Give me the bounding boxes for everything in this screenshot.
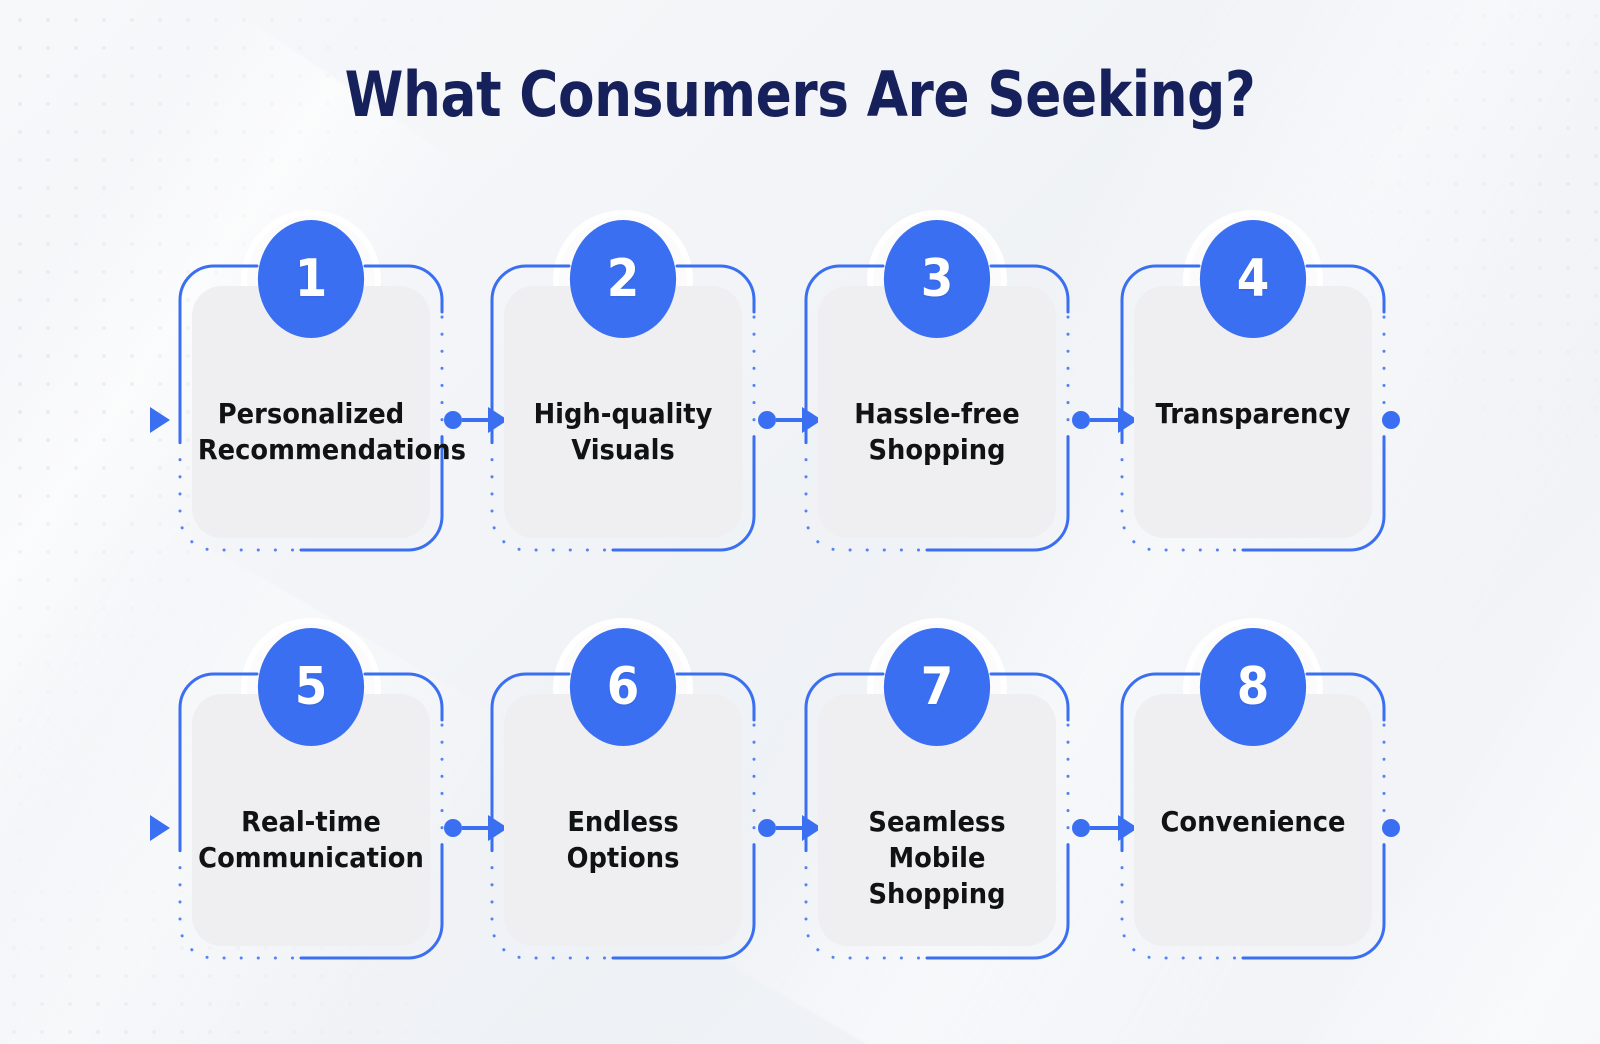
connector-dot-icon: [1072, 819, 1090, 837]
connector-dot-icon: [444, 411, 462, 429]
card-number-badge: 4: [1200, 220, 1306, 338]
card-label: Seamless Mobile Shopping: [824, 804, 1050, 911]
page-title: What Consumers Are Seeking?: [112, 58, 1488, 131]
card-number-badge: 1: [258, 220, 364, 338]
flow-arrow-into-card-1: [150, 408, 180, 432]
flow-card-7[interactable]: 7 Seamless Mobile Shopping: [804, 672, 1070, 960]
connector-dot-icon: [758, 411, 776, 429]
card-label: Personalized Recommendations: [198, 396, 424, 468]
connector-line: [1090, 826, 1118, 830]
flow-card-4[interactable]: 4 Transparency: [1120, 264, 1386, 552]
flow-arrow-into-card-5: [150, 816, 180, 840]
card-number-badge: 2: [570, 220, 676, 338]
arrowhead-icon: [150, 815, 170, 841]
flow-card-5[interactable]: 5 Real-time Communication: [178, 672, 444, 960]
infographic-canvas: What Consumers Are Seeking? 1 Personaliz…: [0, 0, 1600, 1044]
flow-card-8[interactable]: 8 Convenience: [1120, 672, 1386, 960]
card-number-badge: 8: [1200, 628, 1306, 746]
card-number-badge: 3: [884, 220, 990, 338]
card-label: Convenience: [1140, 804, 1366, 840]
flow-card-6[interactable]: 6 Endless Options: [490, 672, 756, 960]
flow-row-2: 5 Real-time Communication 6 Endless Opti…: [0, 630, 1600, 960]
connector-dot-icon: [1072, 411, 1090, 429]
connector-line: [776, 418, 802, 422]
flow-card-1[interactable]: 1 Personalized Recommendations: [178, 264, 444, 552]
flow-row-1: 1 Personalized Recommendations 2 High-qu…: [0, 222, 1600, 552]
connector-dot-icon: [758, 819, 776, 837]
connector-line: [1090, 418, 1118, 422]
connector-line: [462, 826, 488, 830]
flow-card-3[interactable]: 3 Hassle-free Shopping: [804, 264, 1070, 552]
card-number-badge: 5: [258, 628, 364, 746]
card-label: Transparency: [1140, 396, 1366, 432]
card-label: Real-time Communication: [198, 804, 424, 876]
connector-line: [462, 418, 488, 422]
card-label: Hassle-free Shopping: [824, 396, 1050, 468]
connector-dot-icon: [444, 819, 462, 837]
card-number-badge: 6: [570, 628, 676, 746]
card-number-badge: 7: [884, 628, 990, 746]
flow-card-2[interactable]: 2 High-quality Visuals: [490, 264, 756, 552]
connector-line: [776, 826, 802, 830]
card-label: High-quality Visuals: [510, 396, 736, 468]
arrowhead-icon: [150, 407, 170, 433]
card-label: Endless Options: [510, 804, 736, 876]
